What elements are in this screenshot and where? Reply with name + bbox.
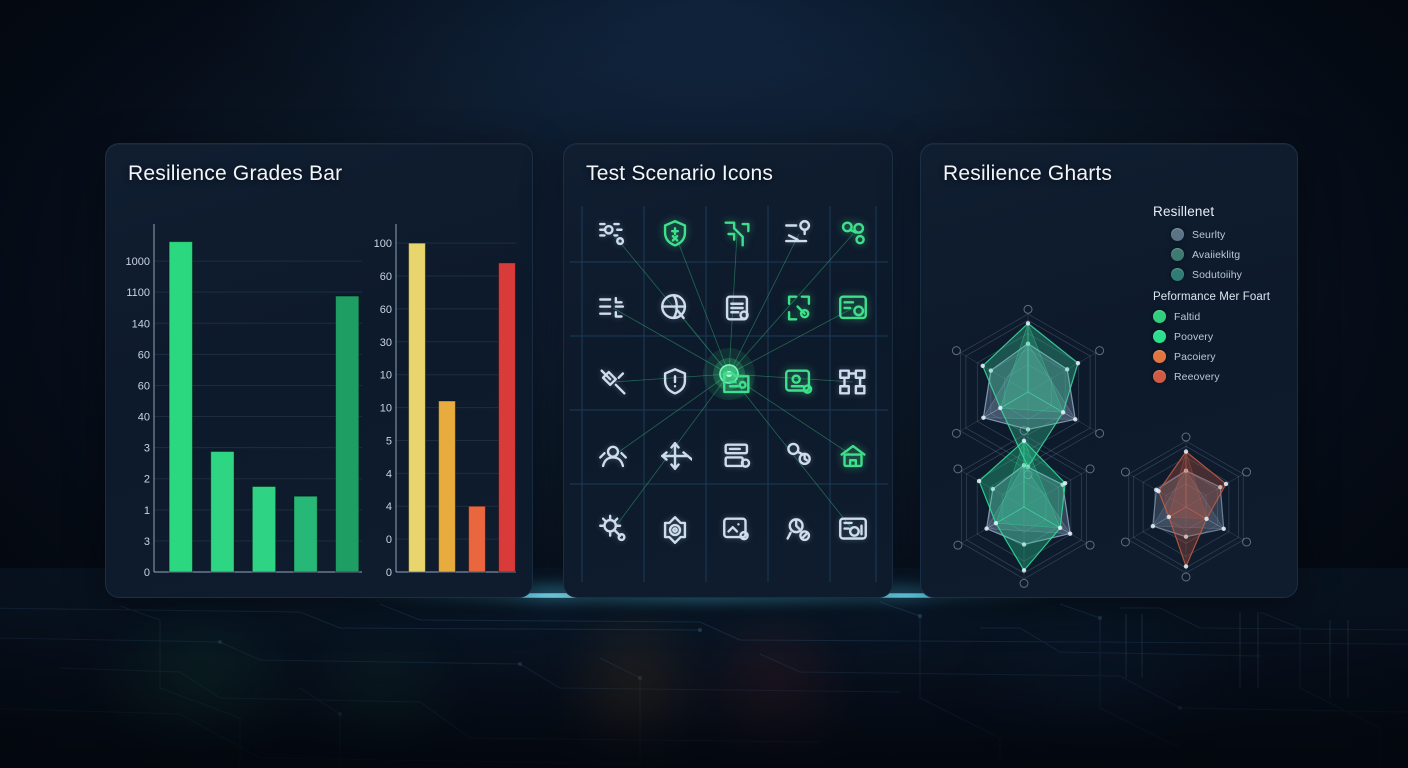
bar-chart-area: 1000110014060604032130 10060603010105440…	[106, 200, 532, 598]
axis-tick-label: 140	[132, 318, 150, 330]
radar-vertex	[1063, 481, 1067, 485]
shield-bug-icon[interactable]	[656, 215, 694, 253]
radar-vertex	[1073, 417, 1077, 421]
clipboard-chaos-icon[interactable]	[718, 289, 756, 327]
legend-color-dot	[1153, 330, 1166, 343]
radar-chart-bottom-left	[954, 427, 1094, 588]
bar[interactable]	[169, 242, 192, 572]
radar-vertex	[977, 479, 981, 483]
bar-chart-svg: 1000110014060604032130 10060603010105440…	[106, 200, 533, 598]
axis-tick-label: 2	[144, 474, 150, 486]
bar[interactable]	[211, 452, 234, 572]
bar[interactable]	[469, 506, 486, 572]
radar-vertex	[1151, 524, 1155, 528]
radar-vertex	[1058, 526, 1062, 530]
legend-color-dot	[1171, 268, 1184, 281]
radar-axis-endpoint	[1243, 538, 1251, 546]
legend-item-label: Faltid	[1174, 311, 1200, 323]
home-guard-icon[interactable]	[834, 437, 872, 475]
radar-vertex	[1222, 527, 1226, 531]
axis-tick-label: 60	[380, 304, 392, 316]
legend-item-label: Sodutoiihy	[1192, 269, 1242, 281]
media-report-icon[interactable]	[834, 511, 872, 549]
broken-link-icon[interactable]	[594, 363, 632, 401]
camera-monitor-icon[interactable]	[656, 511, 694, 549]
bar[interactable]	[294, 496, 317, 572]
axis-tick-label: 0	[386, 567, 392, 579]
radar-vertex	[1068, 531, 1072, 535]
axis-tick-label: 3	[144, 443, 150, 455]
radar-vertex	[984, 526, 988, 530]
panel-resilience-grades-bar[interactable]: Resilience Grades Bar 100011001406060403…	[105, 143, 533, 598]
radar-vertex	[1167, 515, 1171, 519]
axis-tick-label: 0	[144, 567, 150, 579]
radar-axis-endpoint	[1096, 429, 1104, 437]
radar-vertex	[1184, 564, 1188, 568]
node-map-icon[interactable]	[834, 363, 872, 401]
legend-color-dot	[1171, 228, 1184, 241]
radar-axis-endpoint	[1182, 573, 1190, 581]
radar-axis-endpoint	[1086, 541, 1094, 549]
bar[interactable]	[499, 263, 516, 572]
support-hands-icon[interactable]	[594, 437, 632, 475]
legend-item-label: Poovery	[1174, 331, 1213, 343]
radar-vertex	[1156, 489, 1160, 493]
shield-alert-icon[interactable]	[656, 363, 694, 401]
radar-vertex	[994, 521, 998, 525]
bar[interactable]	[409, 243, 426, 572]
legend-color-dot	[1153, 310, 1166, 323]
legend-item[interactable]: Faltid	[1153, 310, 1293, 323]
panel-test-scenario-icons[interactable]: Test Scenario Icons	[563, 143, 893, 598]
chaos-network-icon[interactable]	[594, 215, 632, 253]
axis-tick-label: 40	[138, 412, 150, 424]
legend-color-dot	[1153, 370, 1166, 383]
radar-axis-endpoint	[952, 429, 960, 437]
radar-vertex	[1076, 361, 1080, 365]
radar-vertex	[1061, 410, 1065, 414]
globe-fault-icon[interactable]	[656, 289, 694, 327]
axis-tick-label: 5	[386, 435, 392, 447]
timer-block-icon[interactable]	[780, 511, 818, 549]
radar-chart-bottom-right	[1121, 433, 1250, 581]
radar-axis-endpoint	[1243, 468, 1251, 476]
gear-search-icon[interactable]	[594, 511, 632, 549]
retry-cycle-icon[interactable]	[780, 437, 818, 475]
axis-tick-label: 10	[380, 403, 392, 415]
workflow-branch-icon[interactable]	[718, 215, 756, 253]
radar-vertex	[981, 416, 985, 420]
axis-tick-label: 10	[380, 370, 392, 382]
legend-color-dot	[1153, 350, 1166, 363]
radar-legend: Resillenet SeurltyAvaiieklitgSodutoiihy …	[1153, 204, 1293, 390]
radar-axis-endpoint	[1024, 305, 1032, 313]
radar-vertex	[1022, 439, 1026, 443]
axis-tick-label: 1	[144, 505, 150, 517]
axis-tick-label: 0	[386, 534, 392, 546]
legend-item[interactable]: Avaiieklitg	[1171, 248, 1293, 261]
axis-tick-label: 3	[144, 536, 150, 548]
radar-axis-endpoint	[954, 465, 962, 473]
page-title-bars: Resilience Grades Bar	[128, 162, 342, 186]
legend-heading-secondary: Peformance Mer Foart	[1153, 291, 1293, 303]
radar-axis-endpoint	[1121, 538, 1129, 546]
bar[interactable]	[252, 487, 275, 573]
screen-validate-icon[interactable]	[780, 363, 818, 401]
axis-tick-label: 1000	[126, 256, 150, 268]
axis-tick-label: 60	[138, 349, 150, 361]
dashboard-report-icon[interactable]	[834, 289, 872, 327]
log-entry-icon[interactable]	[718, 437, 756, 475]
panel-resilience-charts[interactable]: Resilience Gharts Resillenet SeurltyAvai…	[920, 143, 1298, 598]
radar-axis-endpoint	[1121, 468, 1129, 476]
axis-tick-label: 60	[138, 380, 150, 392]
axis-tick-label: 30	[380, 337, 392, 349]
radar-vertex	[1022, 568, 1026, 572]
axis-tick-label: 60	[380, 271, 392, 283]
axis-tick-label: 1100	[126, 287, 150, 299]
legend-item-label: Seurlty	[1192, 229, 1225, 241]
radar-vertex	[1224, 482, 1228, 486]
folder-test-icon[interactable]	[718, 363, 756, 401]
legend-item[interactable]: Seurlty	[1171, 228, 1293, 241]
list-config-icon[interactable]	[594, 289, 632, 327]
bar[interactable]	[439, 401, 456, 572]
legend-item[interactable]: Pacoiery	[1153, 350, 1293, 363]
radar-vertex	[1184, 449, 1188, 453]
radar-vertex	[981, 364, 985, 368]
move-arrows-icon[interactable]	[656, 437, 694, 475]
radar-axis-endpoint	[1020, 579, 1028, 587]
legend-color-dot	[1171, 248, 1184, 261]
radar-vertex	[1026, 321, 1030, 325]
legend-item-label: Pacoiery	[1174, 351, 1216, 363]
radar-vertex	[1204, 517, 1208, 521]
gear-cluster-icon[interactable]	[834, 215, 872, 253]
radar-axis-endpoint	[1182, 433, 1190, 441]
radar-axis-endpoint	[952, 347, 960, 355]
axis-tick-label: 100	[374, 238, 392, 250]
legend-item-label: Avaiieklitg	[1192, 249, 1240, 261]
scan-target-icon[interactable]	[780, 289, 818, 327]
radar-axis-endpoint	[954, 541, 962, 549]
legend-heading: Resillenet	[1153, 204, 1293, 219]
bar[interactable]	[336, 296, 359, 572]
legend-item[interactable]: Sodutoiihy	[1171, 268, 1293, 281]
legend-item[interactable]: Poovery	[1153, 330, 1293, 343]
legend-item-label: Reeovery	[1174, 371, 1220, 383]
axis-tick-label: 4	[386, 468, 392, 480]
legend-item[interactable]: Reeovery	[1153, 370, 1293, 383]
image-fault-icon[interactable]	[718, 511, 756, 549]
radar-vertex	[998, 406, 1002, 410]
latency-pin-icon[interactable]	[780, 215, 818, 253]
radar-axis-endpoint	[1096, 347, 1104, 355]
axis-tick-label: 4	[386, 501, 392, 513]
radar-axis-endpoint	[1086, 465, 1094, 473]
